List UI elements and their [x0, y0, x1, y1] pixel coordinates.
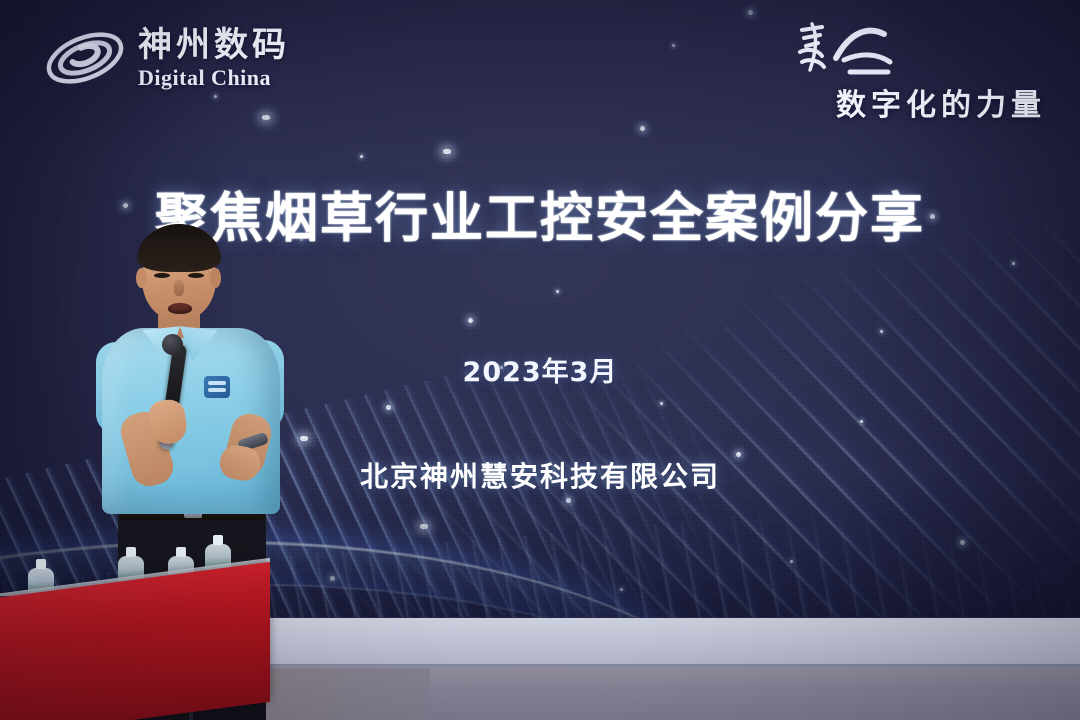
- brand-name-cn: 神州数码: [138, 28, 290, 62]
- brand-name-en: Digital China: [138, 67, 290, 89]
- speaker-nose: [174, 280, 184, 296]
- microphone-capsule: [162, 334, 183, 355]
- speaker-eye-left: [154, 273, 170, 278]
- conference-stage-photo: 神州数码 Digital China 数字化的力量: [0, 0, 1080, 720]
- brand-juhe: 数字化的力量: [786, 18, 1056, 116]
- brand-wordmark: 神州数码 Digital China: [138, 28, 290, 89]
- speaker-ear-left: [136, 268, 147, 288]
- speaker-chest-emblem-icon: [204, 376, 230, 398]
- speaker-ear-right: [210, 268, 221, 288]
- brand-digital-china: 神州数码 Digital China: [42, 20, 290, 96]
- speaker-eye-right: [188, 273, 204, 278]
- brand-slogan: 数字化的力量: [836, 80, 1046, 124]
- digital-china-spiral-logo: [42, 20, 128, 96]
- speaker-hair: [137, 224, 221, 272]
- speaker-mouth: [168, 303, 192, 314]
